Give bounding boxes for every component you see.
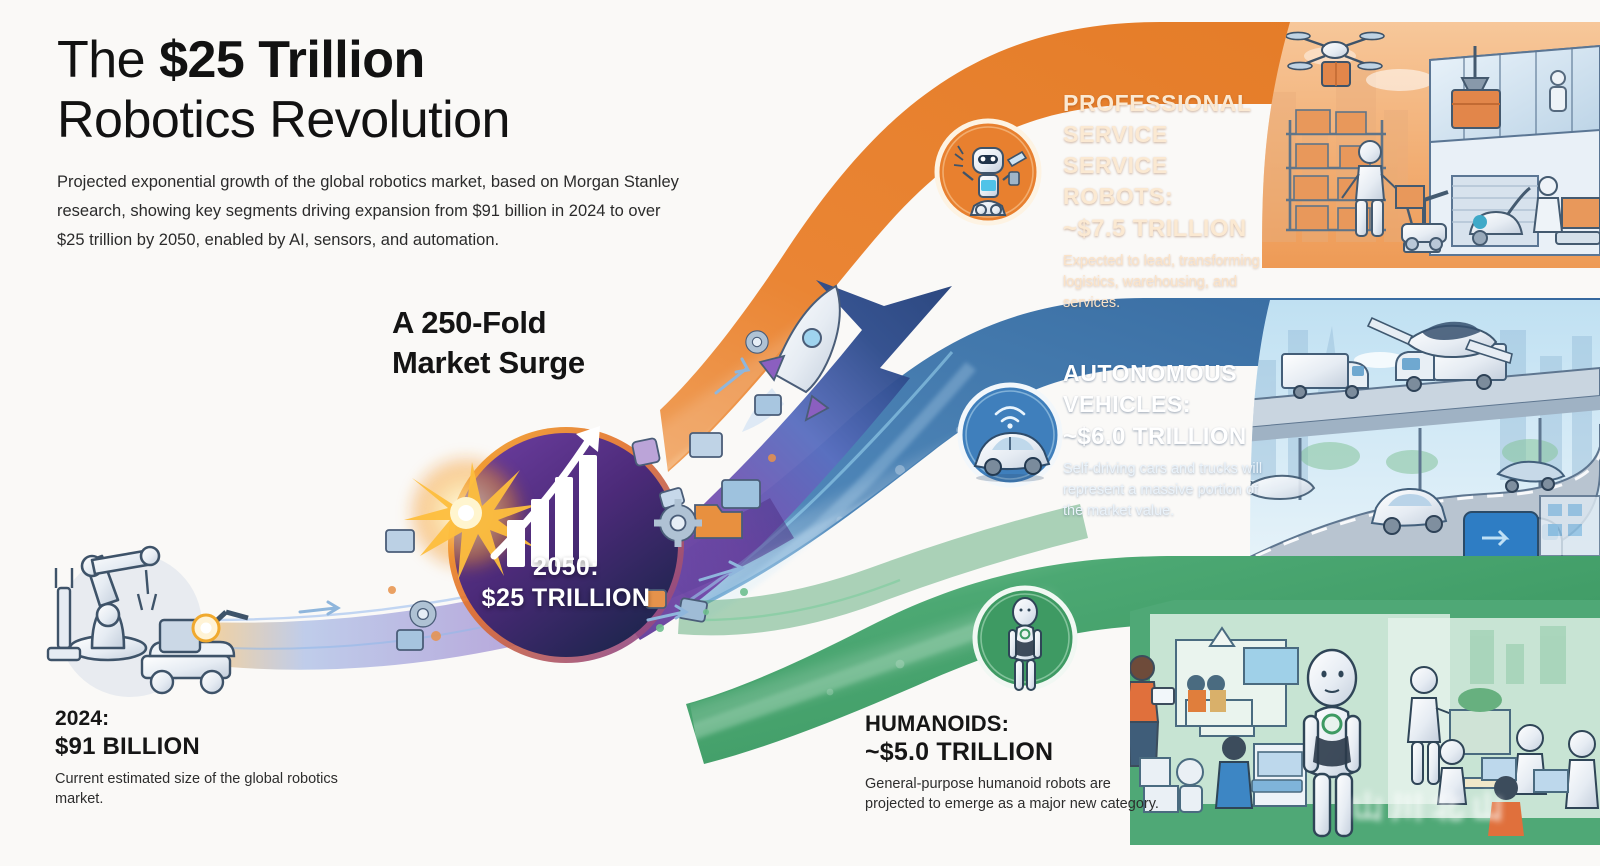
home-office-humanoid-scene — [1126, 572, 1600, 848]
start-kicker: 2024: — [55, 705, 355, 732]
infographic-canvas: The $25 Trillion Robotics Revolution Pro… — [0, 0, 1600, 866]
av-head-1: AUTONOMOUS — [1063, 358, 1278, 389]
surge-callout: A 250-Fold Market Surge — [392, 303, 682, 383]
humanoid-robot-icon — [975, 588, 1075, 690]
psr-amount: ~$7.5 TRILLION — [1063, 212, 1278, 246]
start-amount: $91 BILLION — [55, 732, 355, 762]
segment-label-professional-service-robots: PROFESSIONAL SERVICE SERVICE ROBOTS: ~$7… — [1063, 88, 1278, 314]
center-node-label: 2050: $25 TRILLION — [455, 552, 677, 614]
title-prefix: The — [57, 31, 159, 89]
center-year: 2050: — [455, 552, 677, 582]
surge-line2: Market Surge — [392, 343, 682, 383]
av-desc: Self-driving cars and trucks will repres… — [1063, 459, 1278, 522]
humanoid-desc: General-purpose humanoid robots are proj… — [865, 774, 1165, 814]
segment-label-autonomous-vehicles: AUTONOMOUS VEHICLES: ~$6.0 TRILLION Self… — [1063, 358, 1278, 522]
center-amount: $25 TRILLION — [455, 582, 677, 614]
humanoid-head: HUMANOIDS: — [865, 710, 1165, 737]
av-amount: ~$6.0 TRILLION — [1063, 420, 1278, 454]
page-title-line2: Robotics Revolution — [57, 90, 697, 150]
start-node-label: 2024: $91 BILLION Current estimated size… — [55, 705, 355, 809]
psr-desc: Expected to lead, transforming logistics… — [1063, 251, 1278, 314]
title-highlight: $25 Trillion — [159, 31, 425, 89]
service-robot-icon — [937, 121, 1039, 223]
psr-head-2: SERVICE — [1063, 119, 1278, 150]
av-head-2: VEHICLES: — [1063, 389, 1278, 420]
connected-car-icon — [960, 385, 1060, 485]
segment-label-humanoids: HUMANOIDS: ~$5.0 TRILLION General-purpos… — [865, 710, 1165, 814]
humanoid-amount: ~$5.0 TRILLION — [865, 737, 1165, 767]
page-subtitle: Projected exponential growth of the glob… — [57, 168, 687, 255]
surge-line1: A 250-Fold — [392, 303, 682, 343]
psr-head-3: SERVICE — [1063, 150, 1278, 181]
psr-head-1: PROFESSIONAL — [1063, 88, 1278, 119]
header-block: The $25 Trillion Robotics Revolution Pro… — [57, 30, 697, 255]
page-title: The $25 Trillion — [57, 30, 697, 90]
start-desc: Current estimated size of the global rob… — [55, 769, 355, 809]
person-at-kiosk — [1216, 736, 1306, 808]
warehouse-logistics-scene — [1240, 18, 1600, 270]
psr-head-4: ROBOTS: — [1063, 181, 1278, 212]
